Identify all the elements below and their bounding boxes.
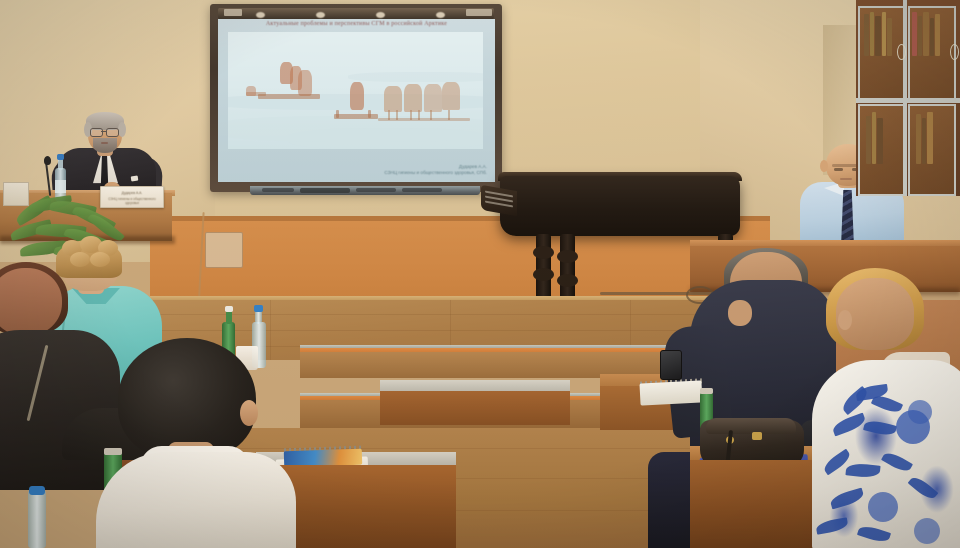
pen-tray-slot [402,188,442,192]
podium-water-bottle-label [55,180,66,193]
microphone-icon [44,156,51,165]
speaker-beard [93,138,117,153]
piano-leg [560,234,575,300]
speaker-glasses-right-lens [106,128,119,137]
smart-board-brand-right [466,9,492,16]
speaker-mouth [101,142,108,144]
hair-bun [70,252,90,267]
attendee-floral-ear [838,310,852,330]
foreground-water-bottle-cap [29,486,45,495]
foreground-water-bottle [28,490,46,548]
slide-attribution-org: СЗНЦ гигиены и общественного здоровья, С… [384,170,487,176]
grand-piano [500,176,740,236]
clear-water-bottle-neck [255,310,262,324]
green-water-bottle-cap [225,306,233,312]
attendee-floral-blouse [812,360,960,548]
projection-screen: Актуальные проблемы и перспективы СГМ в … [218,19,495,182]
mobile-phone[interactable] [660,350,682,380]
speaker-glasses-bridge [101,131,106,132]
spiral-notebook [639,380,702,405]
speaker-hair-right [118,122,126,137]
speaker-pocket-square [131,176,139,182]
panelist-ear [820,160,828,172]
piano-leg [536,234,551,300]
podium-water-bottle-cap [57,154,64,160]
speaker-glasses-left-lens [90,128,103,137]
board-bumper [256,12,265,18]
board-bumper [376,12,385,18]
pen-tray-slot [356,188,396,192]
lecture-hall-photograph: Актуальные проблемы и перспективы СГМ в … [0,0,960,548]
board-bumper [316,12,325,18]
piano-leg-knob [533,246,554,259]
hair-bun [90,252,110,267]
attendee-white-shirt-ear [240,400,258,426]
green-water-bottle-neck [226,310,232,324]
piano-leg-knob [557,274,578,287]
foreground-green-bottle-cap [104,448,122,455]
handbag-flap [706,418,796,434]
pen-tray-slot [300,188,350,193]
handbag-clasp [752,432,762,440]
panelist-eye-left [834,168,843,171]
audience-desk-front [380,391,570,425]
panelist-mouth [840,178,852,180]
pen-tray-slot [262,188,294,192]
slide-title: Актуальные проблемы и перспективы СГМ в … [218,21,495,27]
smart-board-brand-left [224,9,242,16]
wall-outlet-panel [205,232,243,268]
slide-attribution: Дударев А.А. СЗНЦ гигиены и общественног… [384,164,487,176]
board-bumper [436,12,445,18]
attendee-suit-hand [728,300,752,326]
piano-leg-knob [557,250,578,263]
attendee-white-shirt [96,452,296,548]
nameplate-name: Дударев А.А. [101,191,163,195]
slide-illustration [228,32,483,149]
piano-leg-knob [533,268,554,281]
clear-water-bottle-cap [254,305,263,312]
glass-bookcase [856,0,960,196]
desk-green-bottle-cap [700,388,713,394]
